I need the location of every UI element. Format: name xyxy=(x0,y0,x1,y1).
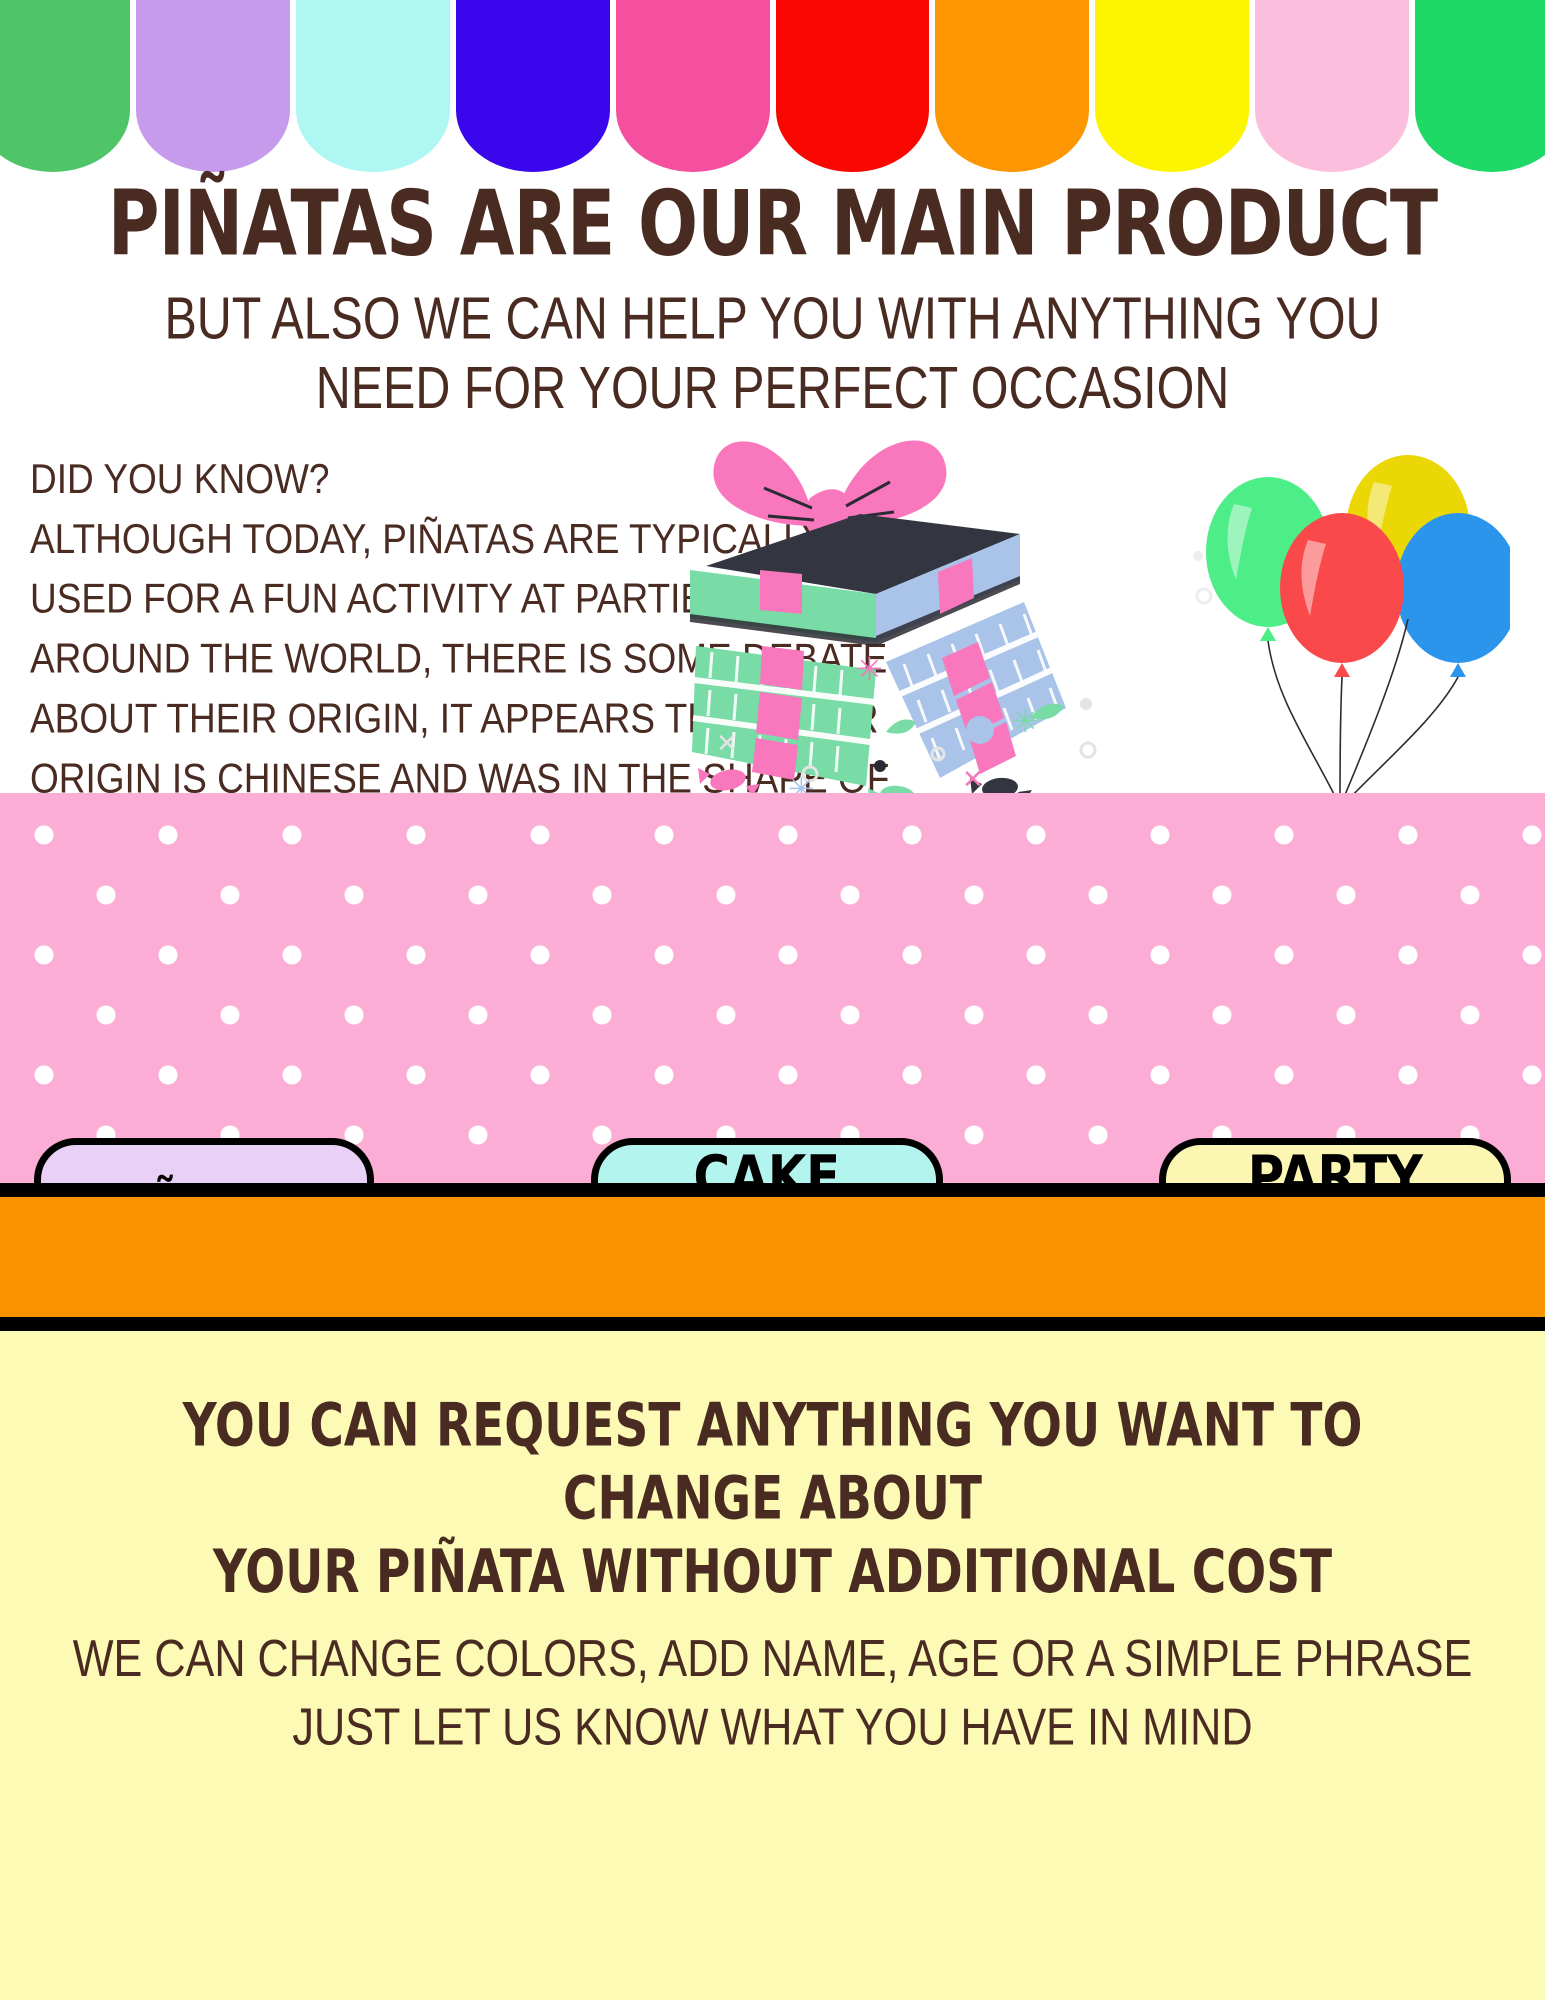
body-line-3: AROUND THE WORLD, THERE IS SOME DEBATE xyxy=(30,629,730,689)
scallop-2 xyxy=(136,0,290,172)
blue-balloon xyxy=(1396,513,1510,677)
scallop-7 xyxy=(935,0,1089,172)
header-block: PIÑATAS ARE OUR MAIN PRODUCT BUT ALSO WE… xyxy=(0,180,1545,405)
body-line-0: DID YOU KNOW? xyxy=(30,450,730,510)
divider-rule-top xyxy=(0,1183,1545,1197)
scallop-1 xyxy=(0,0,130,172)
scallop-6 xyxy=(776,0,930,172)
pink-polka-section xyxy=(0,793,1545,1183)
scallop-8 xyxy=(1095,0,1249,172)
page-title: PIÑATAS ARE OUR MAIN PRODUCT xyxy=(54,180,1491,268)
gift-box-illustration: ✳ ✳ ✳ ✕ ✕ xyxy=(690,380,1250,800)
svg-text:✳: ✳ xyxy=(1012,702,1039,740)
body-line-4: ABOUT THEIR ORIGIN, IT APPEARS THAT THEI… xyxy=(30,689,730,749)
footer-headline-line-1: YOU CAN REQUEST ANYTHING YOU WANT TO CHA… xyxy=(73,1389,1473,1535)
body-line-1: ALTHOUGH TODAY, PIÑATAS ARE TYPICALLY xyxy=(30,510,730,570)
balloons-icon xyxy=(1190,430,1510,810)
footer-headline-line-2: YOUR PIÑATA WITHOUT ADDITIONAL COST xyxy=(73,1535,1473,1608)
scallop-3 xyxy=(296,0,450,172)
svg-text:✳: ✳ xyxy=(856,650,883,688)
svg-text:✕: ✕ xyxy=(962,765,984,795)
body-line-2: USED FOR A FUN ACTIVITY AT PARTIES ALL xyxy=(30,570,730,630)
scallop-9 xyxy=(1255,0,1409,172)
footer-sub-line-2: JUST LET US KNOW WHAT YOU HAVE IN MIND xyxy=(69,1693,1475,1762)
scallop-10 xyxy=(1415,0,1545,172)
orange-band xyxy=(0,1197,1545,1317)
poster-page: PIÑATAS ARE OUR MAIN PRODUCT BUT ALSO WE… xyxy=(0,0,1545,2000)
red-balloon xyxy=(1280,513,1404,677)
gift-box-icon: ✳ ✳ ✳ ✕ ✕ xyxy=(690,380,1250,800)
page-subtitle-line-1: BUT ALSO WE CAN HELP YOU WITH ANYTHING Y… xyxy=(138,284,1406,354)
decor-dot-1 xyxy=(1193,551,1203,561)
scallop-5 xyxy=(616,0,770,172)
scallop-4 xyxy=(456,0,610,172)
footer-subtext: WE CAN CHANGE COLORS, ADD NAME, AGE OR A… xyxy=(31,1624,1514,1762)
decor-dot-2 xyxy=(1197,589,1211,603)
footer-headline: YOU CAN REQUEST ANYTHING YOU WANT TO CHA… xyxy=(46,1389,1498,1609)
balloon-cluster xyxy=(1190,430,1510,810)
scallop-bunting xyxy=(0,0,1545,172)
footer-sub-line-1: WE CAN CHANGE COLORS, ADD NAME, AGE OR A… xyxy=(69,1624,1475,1693)
footer-section: YOU CAN REQUEST ANYTHING YOU WANT TO CHA… xyxy=(0,1331,1545,2000)
divider-rule-bottom xyxy=(0,1317,1545,1331)
svg-text:✕: ✕ xyxy=(716,729,738,759)
